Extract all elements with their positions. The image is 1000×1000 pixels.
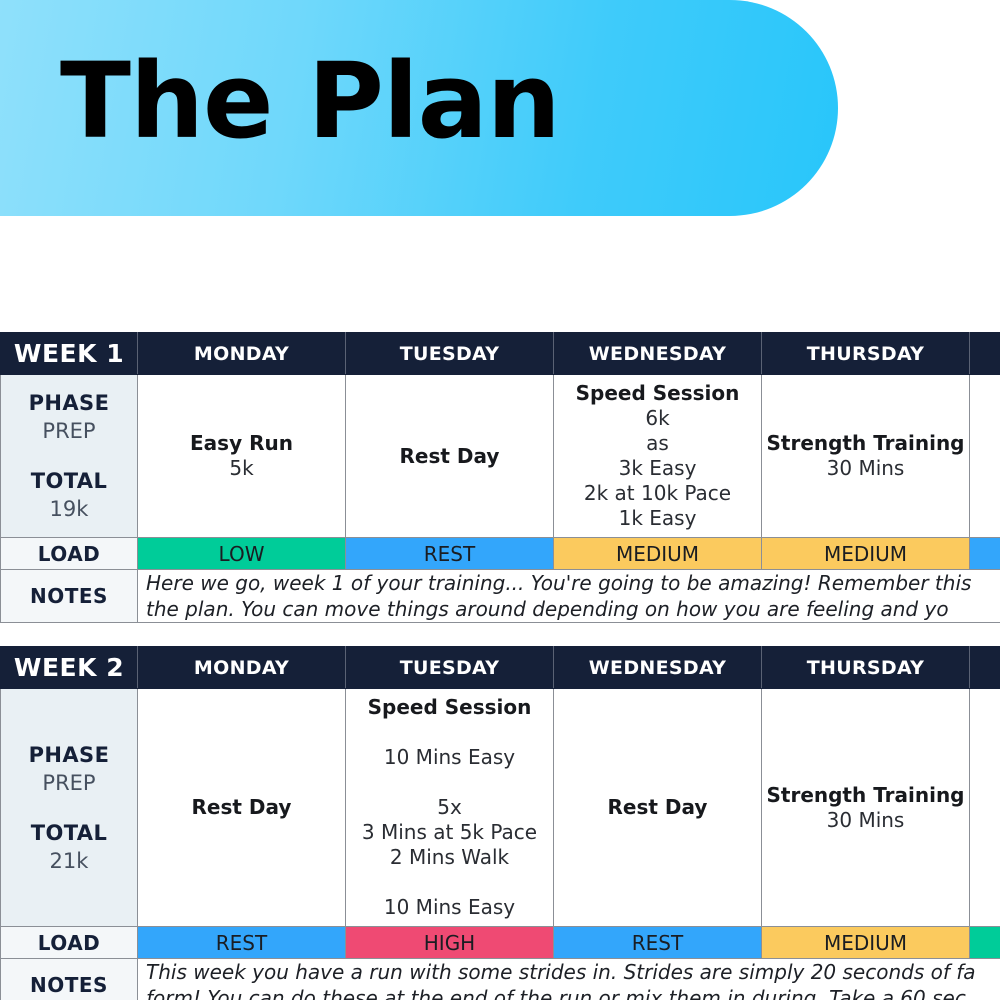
notes-line-1: Here we go, week 1 of your training... Y… — [138, 570, 1000, 596]
week-2-load-label: LOAD — [1, 927, 138, 959]
session-line: 1k Easy — [558, 506, 757, 531]
week-2-load-tuesday[interactable]: HIGH — [346, 927, 554, 959]
session-line: 30 Mins — [766, 456, 965, 481]
week-1-session-friday[interactable] — [970, 375, 1000, 538]
week-2-load-row: LOAD REST HIGH REST MEDIUM — [1, 927, 1000, 959]
week-2-session-thursday[interactable]: Strength Training 30 Mins — [762, 689, 970, 927]
week-2-session-monday[interactable]: Rest Day — [138, 689, 346, 927]
week-1-phase-value: PREP — [5, 417, 133, 445]
week-1-load-thursday[interactable]: MEDIUM — [762, 538, 970, 570]
week-2-table: WEEK 2 MONDAY TUESDAY WEDNESDAY THURSDAY… — [0, 646, 1000, 1000]
week-1-session-row: PHASE PREP TOTAL 19k Easy Run 5k Rest Da… — [1, 375, 1000, 538]
week-2-phase-value: PREP — [5, 769, 133, 797]
session-title: Rest Day — [558, 795, 757, 820]
session-line: 2k at 10k Pace — [558, 481, 757, 506]
session-line: as — [558, 431, 757, 456]
week-1-load-row: LOAD LOW REST MEDIUM MEDIUM — [1, 538, 1000, 570]
week-1-day-tuesday: TUESDAY — [346, 333, 554, 375]
week-1-load-label: LOAD — [1, 538, 138, 570]
week-2-notes-label: NOTES — [1, 959, 138, 1000]
week-1-total-label: TOTAL — [5, 467, 133, 495]
week-2-session-row: PHASE PREP TOTAL 21k Rest Day Speed Sess… — [1, 689, 1000, 927]
week-2-load-thursday[interactable]: MEDIUM — [762, 927, 970, 959]
week-1-load-tuesday[interactable]: REST — [346, 538, 554, 570]
week-2-load-friday[interactable] — [970, 927, 1000, 959]
week-1-day-thursday: THURSDAY — [762, 333, 970, 375]
week-1-session-wednesday[interactable]: Speed Session 6k as 3k Easy 2k at 10k Pa… — [554, 375, 762, 538]
session-title: Speed Session — [350, 695, 549, 720]
session-title: Rest Day — [350, 444, 549, 469]
session-line: 2 Mins Walk — [350, 845, 549, 870]
week-2-label: WEEK 2 — [1, 647, 138, 689]
week-1-day-monday: MONDAY — [138, 333, 346, 375]
week-2-day-monday: MONDAY — [138, 647, 346, 689]
week-1-label: WEEK 1 — [1, 333, 138, 375]
week-1-table: WEEK 1 MONDAY TUESDAY WEDNESDAY THURSDAY… — [0, 332, 1000, 623]
week-2-day-friday — [970, 647, 1000, 689]
session-line: 10 Mins Easy — [350, 745, 549, 770]
week-2-session-tuesday[interactable]: Speed Session 10 Mins Easy 5x 3 Mins at … — [346, 689, 554, 927]
session-title: Strength Training — [766, 783, 965, 808]
week-1-notes-row: NOTES Here we go, week 1 of your trainin… — [1, 570, 1000, 623]
week-1-load-friday[interactable] — [970, 538, 1000, 570]
session-line: 3 Mins at 5k Pace — [350, 820, 549, 845]
session-spacer — [350, 770, 549, 795]
week-1-session-monday[interactable]: Easy Run 5k — [138, 375, 346, 538]
week-2-load-monday[interactable]: REST — [138, 927, 346, 959]
week-1-notes-label: NOTES — [1, 570, 138, 623]
session-title: Speed Session — [558, 381, 757, 406]
week-1-day-friday — [970, 333, 1000, 375]
session-line: 30 Mins — [766, 808, 965, 833]
week-1-notes-cell[interactable]: Here we go, week 1 of your training... Y… — [138, 570, 1000, 623]
week-1-load-wednesday[interactable]: MEDIUM — [554, 538, 762, 570]
week-1-day-wednesday: WEDNESDAY — [554, 333, 762, 375]
notes-line-2: form! You can do these at the end of the… — [138, 985, 1000, 1000]
session-spacer — [350, 720, 549, 745]
session-line: 10 Mins Easy — [350, 895, 549, 920]
week-2-day-thursday: THURSDAY — [762, 647, 970, 689]
session-line: 5k — [142, 456, 341, 481]
week-1-phase-label: PHASE — [5, 389, 133, 417]
session-line: 6k — [558, 406, 757, 431]
week-2-notes-cell[interactable]: This week you have a run with some strid… — [138, 959, 1000, 1000]
week-2-summary-cell: PHASE PREP TOTAL 21k — [1, 689, 138, 927]
week-2-day-tuesday: TUESDAY — [346, 647, 554, 689]
week-2-phase-label: PHASE — [5, 741, 133, 769]
week-1-load-monday[interactable]: LOW — [138, 538, 346, 570]
notes-line-2: the plan. You can move things around dep… — [138, 596, 1000, 622]
week-1-session-thursday[interactable]: Strength Training 30 Mins — [762, 375, 970, 538]
notes-line-1: This week you have a run with some strid… — [138, 959, 1000, 985]
page-title: The Plan — [60, 36, 560, 166]
session-spacer — [350, 870, 549, 895]
week-2-header-row: WEEK 2 MONDAY TUESDAY WEDNESDAY THURSDAY — [1, 647, 1000, 689]
session-title: Strength Training — [766, 431, 965, 456]
summary-gap — [5, 797, 133, 819]
week-2-total-value: 21k — [5, 847, 133, 875]
week-1-total-value: 19k — [5, 495, 133, 523]
session-title: Rest Day — [142, 795, 341, 820]
page-header-banner: The Plan — [0, 0, 838, 216]
session-line: 5x — [350, 795, 549, 820]
week-1-session-tuesday[interactable]: Rest Day — [346, 375, 554, 538]
week-2-load-wednesday[interactable]: REST — [554, 927, 762, 959]
week-1-summary-cell: PHASE PREP TOTAL 19k — [1, 375, 138, 538]
week-2-notes-row: NOTES This week you have a run with some… — [1, 959, 1000, 1000]
page-root: The Plan WEEK 1 MONDAY TUESDAY WEDNESDAY… — [0, 0, 1000, 1000]
session-title: Easy Run — [142, 431, 341, 456]
session-line: 3k Easy — [558, 456, 757, 481]
week-2-session-wednesday[interactable]: Rest Day — [554, 689, 762, 927]
summary-gap — [5, 445, 133, 467]
week-1-header-row: WEEK 1 MONDAY TUESDAY WEDNESDAY THURSDAY — [1, 333, 1000, 375]
week-2-total-label: TOTAL — [5, 819, 133, 847]
week-2-session-friday[interactable] — [970, 689, 1000, 927]
week-2-day-wednesday: WEDNESDAY — [554, 647, 762, 689]
